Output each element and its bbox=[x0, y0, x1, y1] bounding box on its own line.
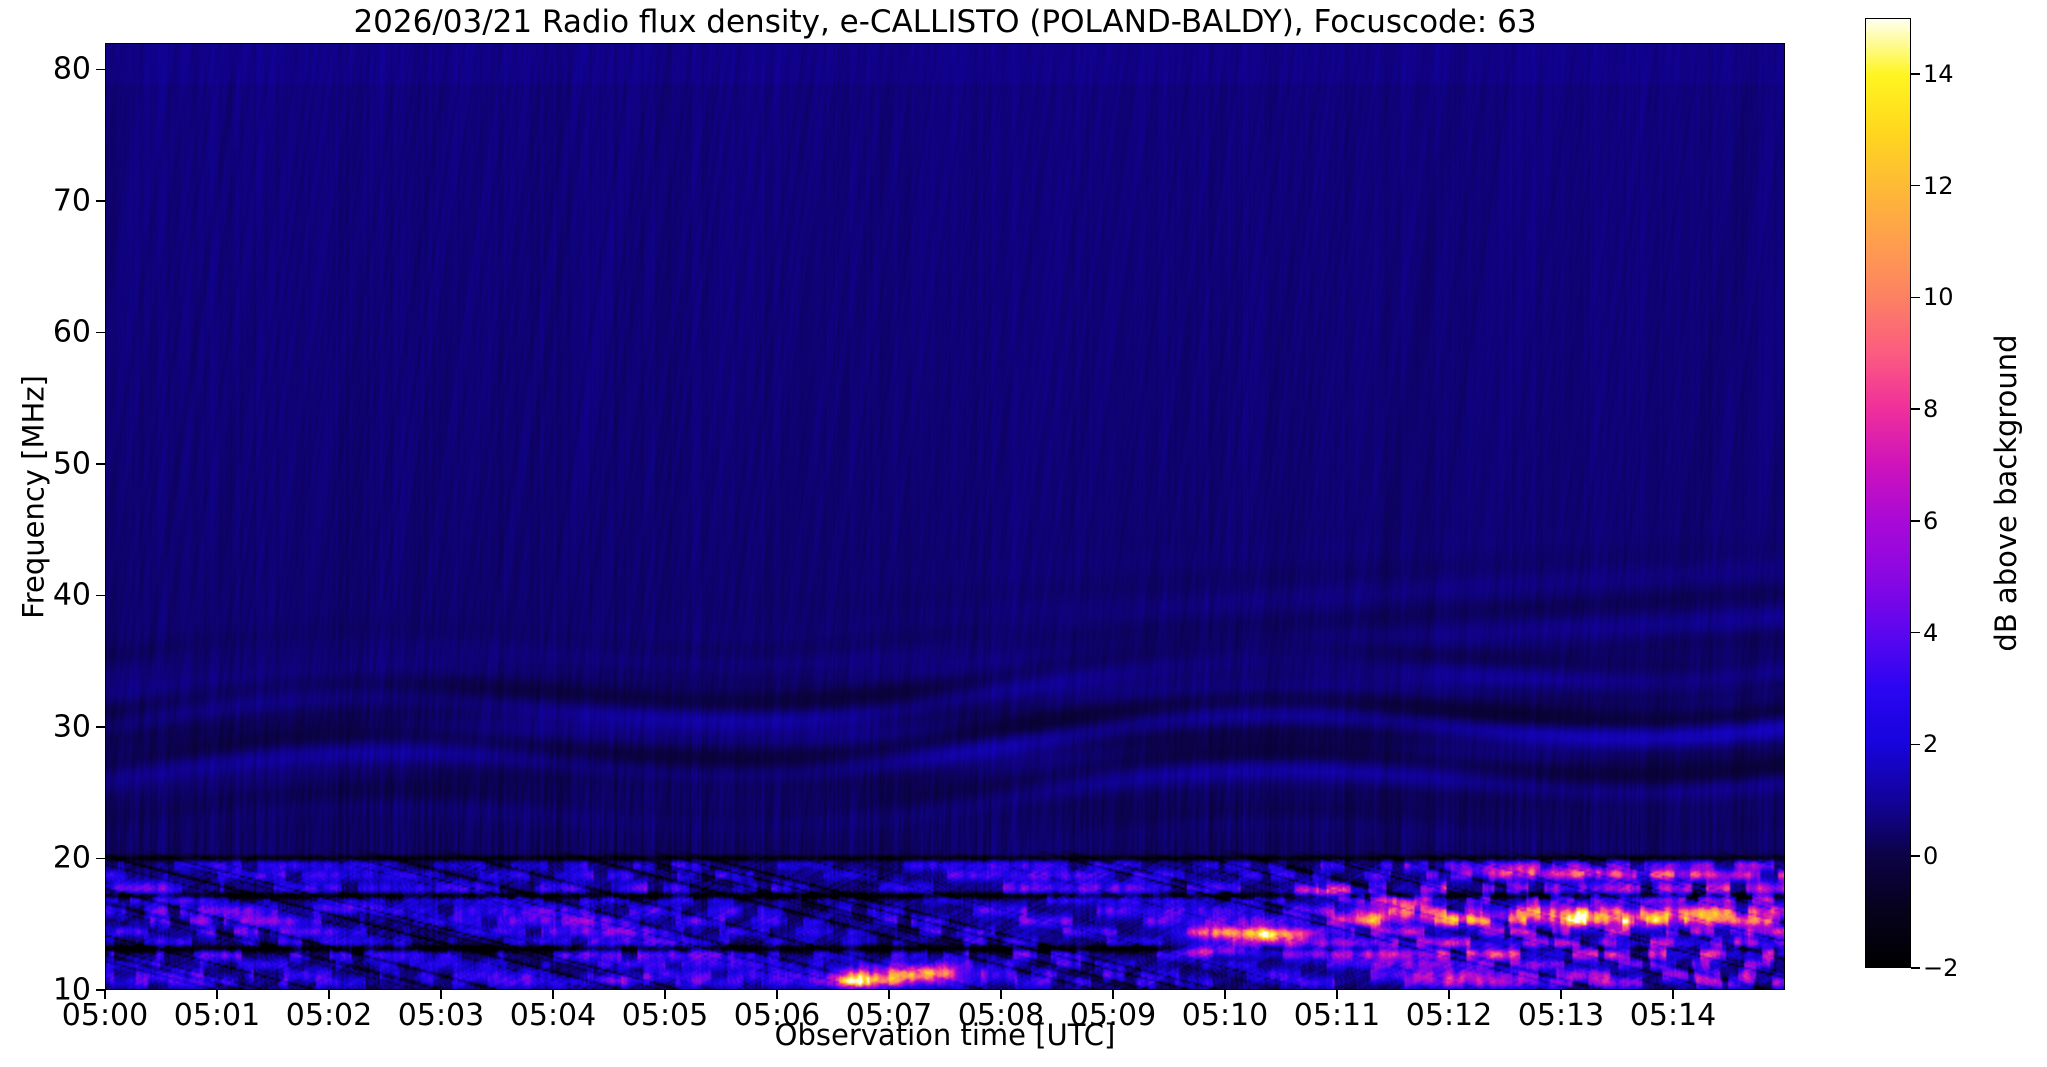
x-tick-label: 05:09 bbox=[1070, 998, 1156, 1033]
x-tick-mark bbox=[1448, 990, 1450, 999]
colorbar-tick-mark bbox=[1911, 185, 1920, 187]
colorbar-tick-mark bbox=[1911, 297, 1920, 299]
spectrogram-plot-area[interactable] bbox=[105, 43, 1785, 990]
y-tick-mark bbox=[96, 463, 105, 465]
y-tick-mark bbox=[96, 69, 105, 71]
x-tick-label: 05:14 bbox=[1630, 998, 1716, 1033]
colorbar-tick-mark bbox=[1911, 408, 1920, 410]
colorbar-tick-label: 0 bbox=[1923, 842, 1938, 870]
colorbar-tick-mark bbox=[1911, 855, 1920, 857]
y-tick-mark bbox=[96, 595, 105, 597]
x-tick-mark bbox=[776, 990, 778, 999]
x-tick-label: 05:07 bbox=[846, 998, 932, 1033]
x-tick-label: 05:10 bbox=[1182, 998, 1268, 1033]
x-tick-mark bbox=[1224, 990, 1226, 999]
y-tick-mark bbox=[96, 726, 105, 728]
x-tick-mark bbox=[1672, 990, 1674, 999]
colorbar-tick-mark bbox=[1911, 520, 1920, 522]
x-tick-label: 05:11 bbox=[1294, 998, 1380, 1033]
x-tick-label: 05:04 bbox=[510, 998, 596, 1033]
y-tick-label: 80 bbox=[53, 52, 91, 87]
x-tick-mark bbox=[1336, 990, 1338, 999]
colorbar-tick-label: 8 bbox=[1923, 395, 1938, 423]
y-tick-label: 40 bbox=[53, 578, 91, 613]
x-tick-label: 05:00 bbox=[62, 998, 148, 1033]
colorbar-tick-label: 12 bbox=[1923, 172, 1954, 200]
x-tick-mark bbox=[328, 990, 330, 999]
x-tick-label: 05:12 bbox=[1406, 998, 1492, 1033]
colorbar[interactable] bbox=[1865, 18, 1911, 968]
x-tick-mark bbox=[1560, 990, 1562, 999]
x-tick-label: 05:08 bbox=[958, 998, 1044, 1033]
colorbar-tick-label: 4 bbox=[1923, 619, 1938, 647]
y-tick-mark bbox=[96, 332, 105, 334]
x-tick-label: 05:02 bbox=[286, 998, 372, 1033]
x-tick-mark bbox=[1000, 990, 1002, 999]
colorbar-tick-mark bbox=[1911, 632, 1920, 634]
colorbar-tick-mark bbox=[1911, 744, 1920, 746]
x-tick-mark bbox=[552, 990, 554, 999]
y-tick-label: 70 bbox=[53, 183, 91, 218]
y-tick-label: 20 bbox=[53, 841, 91, 876]
y-tick-label: 60 bbox=[53, 315, 91, 350]
colorbar-tick-label: 6 bbox=[1923, 507, 1938, 535]
x-tick-mark bbox=[1112, 990, 1114, 999]
x-tick-label: 05:03 bbox=[398, 998, 484, 1033]
page-title: 2026/03/21 Radio flux density, e-CALLIST… bbox=[105, 4, 1785, 40]
y-axis-label: Frequency [MHz] bbox=[17, 24, 51, 971]
x-tick-mark bbox=[888, 990, 890, 999]
colorbar-gradient bbox=[1865, 18, 1911, 968]
x-tick-label: 05:13 bbox=[1518, 998, 1604, 1033]
colorbar-tick-label: −2 bbox=[1923, 954, 1958, 982]
x-tick-mark bbox=[216, 990, 218, 999]
colorbar-tick-mark bbox=[1911, 967, 1920, 969]
colorbar-tick-label: 2 bbox=[1923, 730, 1938, 758]
colorbar-tick-label: 14 bbox=[1923, 60, 1954, 88]
x-tick-label: 05:06 bbox=[734, 998, 820, 1033]
y-tick-mark bbox=[96, 200, 105, 202]
x-tick-label: 05:01 bbox=[174, 998, 260, 1033]
x-tick-mark bbox=[104, 990, 106, 999]
y-tick-mark bbox=[96, 858, 105, 860]
spectrogram-heatmap bbox=[106, 44, 1784, 989]
spectrogram-figure: 2026/03/21 Radio flux density, e-CALLIST… bbox=[0, 0, 2047, 1067]
y-tick-label: 30 bbox=[53, 709, 91, 744]
y-tick-label: 50 bbox=[53, 446, 91, 481]
x-tick-mark bbox=[664, 990, 666, 999]
x-tick-mark bbox=[440, 990, 442, 999]
colorbar-tick-mark bbox=[1911, 73, 1920, 75]
colorbar-tick-label: 10 bbox=[1923, 283, 1954, 311]
x-tick-label: 05:05 bbox=[622, 998, 708, 1033]
colorbar-label: dB above background bbox=[1989, 18, 2023, 968]
